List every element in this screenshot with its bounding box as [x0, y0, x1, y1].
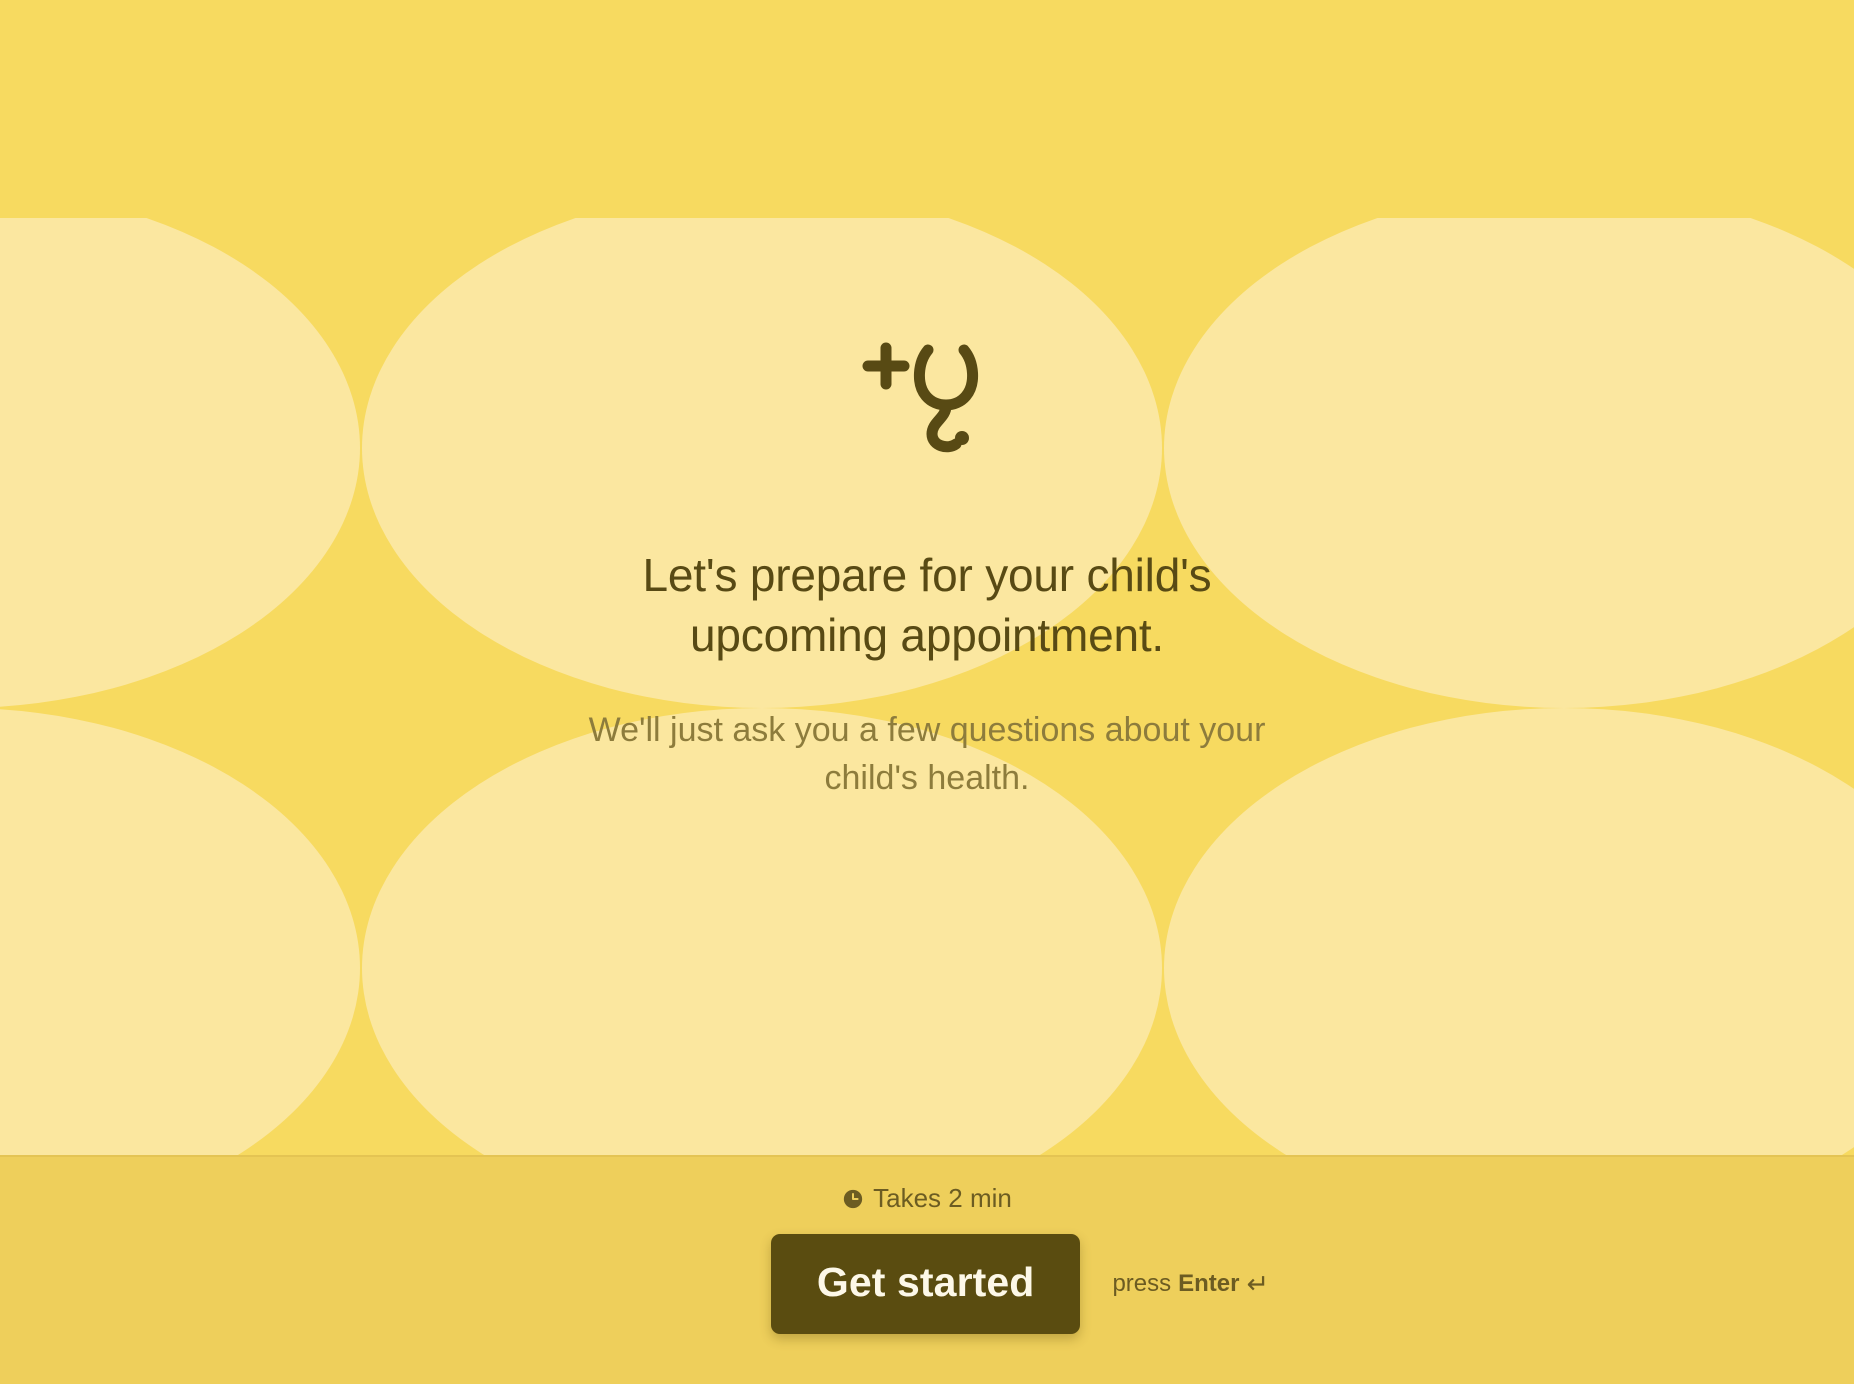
brand-logo [0, 252, 1854, 552]
page-subtitle: We'll just ask you a few questions about… [577, 706, 1277, 803]
page-title: Let's prepare for your child's upcoming … [547, 546, 1307, 666]
keyboard-hint: press Enter ↵ [1112, 1270, 1269, 1298]
estimated-time: Takes 2 min [842, 1183, 1012, 1214]
estimated-time-label: Takes 2 min [873, 1183, 1012, 1214]
keyboard-hint-prefix: press [1112, 1270, 1171, 1298]
welcome-screen: Let's prepare for your child's upcoming … [0, 218, 1854, 1155]
footer-actions: Get started press Enter ↵ [585, 1234, 1269, 1334]
get-started-button[interactable]: Get started [771, 1234, 1081, 1334]
keyboard-hint-key: Enter [1178, 1270, 1239, 1298]
footer-bar: Takes 2 min Get started press Enter ↵ [0, 1155, 1854, 1384]
stethoscope-plus-icon [852, 332, 1002, 472]
clock-icon [842, 1188, 864, 1210]
return-arrow-icon: ↵ [1246, 1271, 1269, 1298]
